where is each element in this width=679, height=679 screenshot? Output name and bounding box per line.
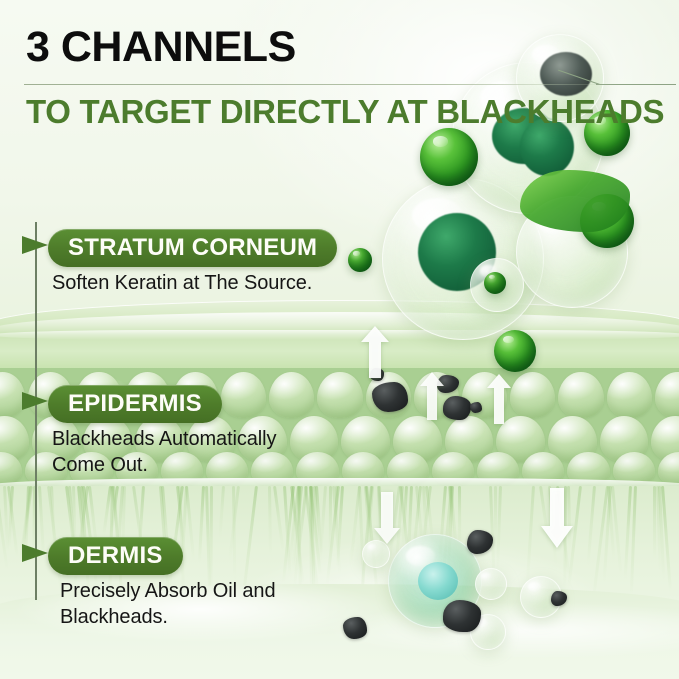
blackhead-particle	[443, 396, 471, 420]
green-sphere-mid-right	[580, 194, 634, 248]
dermis-fibre	[291, 486, 303, 571]
epidermis-cell	[445, 416, 494, 462]
epidermis-cell	[269, 372, 314, 418]
dermis-fibre	[438, 486, 447, 563]
dermis-fibre	[315, 486, 323, 554]
arrow-right-icon	[22, 544, 48, 562]
epidermis-cell	[387, 452, 429, 486]
infographic-poster: 3 CHANNELS TO TARGET DIRECTLY AT BLACKHE…	[0, 0, 679, 679]
arrow-up-icon	[361, 326, 389, 378]
blackhead-particle	[372, 382, 408, 412]
dermis-fibre	[232, 486, 236, 580]
dermis-fibre	[328, 486, 331, 554]
dermis-fibre	[439, 486, 452, 597]
title-divider	[24, 84, 624, 85]
stratum-corneum-ripple	[0, 330, 679, 340]
dermis-fibre	[586, 486, 595, 565]
dermis-fibre	[611, 486, 622, 576]
dermis-fibre	[366, 486, 375, 559]
epidermis-cell	[567, 452, 609, 486]
dermis-fibre	[309, 486, 322, 575]
dermis-fibre	[326, 486, 340, 585]
dermis-fibre	[109, 486, 119, 539]
dermis-fibre	[290, 486, 305, 585]
blackhead-particle	[437, 375, 459, 393]
epidermis-cell	[221, 372, 266, 418]
dermis-bubble-small	[475, 568, 507, 600]
green-blob-shape	[520, 170, 630, 232]
dermis-fibre	[496, 486, 502, 570]
dermis-fibre	[332, 486, 341, 575]
dermis-fibre	[449, 486, 458, 547]
dermis-fibre	[415, 486, 426, 563]
dermis-fibre	[658, 486, 665, 579]
dermis-fibre	[297, 486, 301, 541]
dermis-fibre	[335, 486, 338, 540]
blackhead-particle	[551, 591, 567, 606]
dermis-fibre	[378, 486, 384, 576]
epidermis-cell	[607, 372, 652, 418]
bubble-large-left	[382, 178, 544, 340]
dermis-fibre	[359, 486, 373, 605]
epidermis-cell	[477, 452, 519, 486]
dermis-bubble-main	[388, 534, 482, 628]
dermis-fibre	[448, 486, 455, 541]
green-sphere-descending	[494, 330, 536, 372]
epidermis-cell	[600, 416, 649, 462]
dermis-fibre	[50, 486, 56, 546]
dermis-fibre	[420, 486, 432, 562]
blackhead-particle	[467, 530, 493, 554]
epidermis-cell	[558, 372, 603, 418]
epidermis-cell	[496, 416, 545, 462]
dermis-fibre	[297, 486, 302, 595]
bubble-tiny-lower	[470, 258, 524, 312]
dermis-fibre	[198, 486, 205, 563]
dermis-fibre	[402, 486, 408, 546]
layer-caption-dermis: Precisely Absorb Oil and Blackheads.	[60, 579, 275, 630]
epidermis-cell	[342, 452, 384, 486]
epidermis-cell	[510, 372, 555, 418]
dermis-fibre	[219, 486, 226, 538]
dermis-fibre	[539, 486, 550, 545]
dermis-fibre	[228, 486, 240, 560]
dermis-fibre	[567, 486, 571, 549]
layer-badge-epidermis: EPIDERMIS	[48, 385, 222, 423]
dermis-fibre	[313, 486, 319, 547]
dermis-fibre	[653, 486, 656, 559]
stratum-corneum-layer-art	[0, 300, 679, 380]
stratum-corneum-sheen	[0, 312, 679, 334]
blackhead-particle	[470, 402, 482, 413]
dermis-fibre	[489, 486, 496, 581]
layer-badge-stratum-corneum: STRATUM CORNEUM	[48, 229, 337, 267]
dermis-bubble-small	[362, 540, 390, 568]
dermis-fibre	[209, 486, 213, 593]
epidermis-cell	[393, 416, 442, 462]
epidermis-cell	[317, 372, 362, 418]
arrow-up-icon	[487, 374, 511, 424]
dermis-fibre	[309, 486, 313, 597]
dermis-fibre	[3, 486, 9, 553]
epidermis-cell	[296, 452, 338, 486]
dermis-fibre	[656, 486, 662, 572]
dermis-fibre	[422, 486, 428, 543]
green-sphere-tiny	[484, 272, 506, 294]
epidermis-cell	[655, 372, 679, 418]
dermis-fibre	[110, 486, 120, 539]
dermis-fibre	[387, 486, 401, 567]
arrow-down-icon	[541, 488, 573, 548]
layer-caption-stratum-corneum: Soften Keratin at The Source.	[52, 271, 312, 297]
dermis-fibre	[268, 486, 272, 556]
dermis-fibre	[395, 486, 404, 565]
dermis-fibre	[283, 486, 291, 575]
dermis-fibre	[350, 486, 362, 565]
dermis-fibre	[310, 486, 316, 604]
page-subtitle: TO TARGET DIRECTLY AT BLACKHEADS	[26, 93, 664, 130]
dermis-fibre	[592, 486, 609, 602]
dermis-fibre	[7, 486, 13, 547]
epidermis-cell	[290, 416, 339, 462]
epidermis-cell	[414, 372, 459, 418]
bubble-green-core	[418, 213, 496, 291]
dermis-fibre	[568, 486, 583, 588]
dermis-fibre	[365, 486, 379, 594]
epidermis-cell	[548, 416, 597, 462]
dermis-fibre	[293, 486, 308, 587]
epidermis-cell	[613, 452, 655, 486]
bubble-right-mid	[516, 196, 628, 308]
dermis-fibre	[629, 486, 636, 596]
blackhead-particle	[443, 600, 481, 632]
epidermis-cell	[462, 372, 507, 418]
dermis-fibre	[293, 486, 303, 574]
layer-badge-dermis: DERMIS	[48, 537, 183, 575]
epidermis-cell	[366, 372, 411, 418]
blackhead-particle	[343, 617, 367, 639]
arrow-up-icon	[420, 372, 444, 420]
page-title: 3 CHANNELS	[26, 26, 296, 69]
dermis-fibre	[282, 486, 295, 583]
epidermis-cell	[432, 452, 474, 486]
dermis-fibre	[0, 486, 9, 570]
dermis-fibre	[526, 486, 535, 584]
epidermis-cell	[522, 452, 564, 486]
dermis-fibre	[318, 486, 327, 565]
epidermis-cell	[651, 416, 679, 462]
dermis-fibre	[364, 486, 372, 556]
dermis-fibre	[661, 486, 672, 592]
epidermis-cell	[658, 452, 679, 486]
dermis-bubble-core	[418, 562, 458, 600]
dermis-fibre	[273, 486, 285, 551]
epidermis-floor	[0, 478, 679, 492]
dermis-fibre	[407, 486, 413, 564]
dermis-bubble-small	[520, 576, 562, 618]
dermis-fibre	[602, 486, 611, 583]
bubble-gray-core	[540, 52, 592, 96]
arrow-down-icon	[374, 492, 400, 544]
green-sphere-edge	[348, 248, 372, 272]
layer-caption-epidermis: Blackheads Automatically Come Out.	[52, 427, 276, 478]
green-sphere-left	[420, 128, 478, 186]
dermis-fibre	[548, 486, 557, 565]
arrow-right-icon	[22, 236, 48, 254]
dermis-fibre	[494, 486, 497, 558]
arrow-right-icon	[22, 392, 48, 410]
dermis-fibre	[102, 486, 112, 536]
dermis-bubble-small	[470, 614, 506, 650]
dermis-fibre	[563, 486, 567, 588]
dermis-fibre	[458, 486, 461, 547]
blackhead-particle	[370, 368, 384, 381]
dermis-fibre	[358, 486, 366, 602]
epidermis-cell	[0, 452, 22, 486]
epidermis-cell	[0, 416, 29, 462]
dermis-fibre	[7, 486, 19, 558]
epidermis-cell	[341, 416, 390, 462]
dermis-fibre	[304, 486, 320, 596]
dermis-fibre	[624, 486, 632, 579]
dermis-fibre	[447, 486, 454, 571]
dermis-fibre	[556, 486, 571, 579]
dermis-fibre	[289, 486, 301, 562]
dermis-fibre	[336, 486, 344, 567]
dermis-fibre	[607, 486, 615, 560]
dermis-fibre	[185, 486, 195, 561]
dermis-fibre	[410, 486, 421, 566]
dermis-fibre	[377, 486, 382, 538]
dermis-fibre	[425, 486, 434, 542]
dermis-fibre	[399, 486, 413, 582]
